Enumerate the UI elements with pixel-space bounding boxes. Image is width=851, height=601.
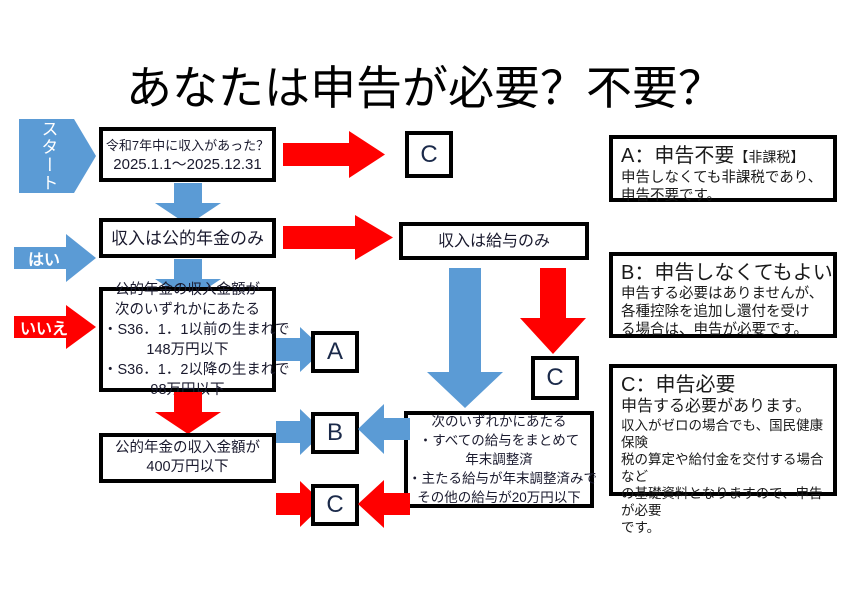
start-pentagon-arrow: スタート [19,119,96,193]
q1-line2: 2025.1.1～2025.12.31 [103,155,272,174]
q3-line1: 公的年金の収入金額が [103,280,272,300]
legend-b-head-main: B：申告しなくてもよい [621,261,826,285]
question-box-pension-4m: 公的年金の収入金額が 400万円以下 [99,433,276,483]
question-box-salary-only: 収入は給与のみ [399,222,589,260]
legend-a-head-small: 【非課税】 [734,149,804,165]
arrow-right-q2-to-salary [283,215,393,260]
yes-label: はい [18,234,70,282]
q3-line4: 148万円以下 [103,340,272,360]
q6-line3: 年末調整済 [408,450,590,469]
arrow-down-salary-to-detail [427,268,503,408]
result-box-a: A [311,331,359,373]
no-label: いいえ [18,305,70,349]
result-b-label: B [327,421,343,445]
q4-line2: 400万円以下 [103,458,272,477]
start-label: スタート [19,119,77,193]
result-c-top-label: C [420,143,437,167]
question-box-pension-threshold: 公的年金の収入金額が 次のいずれかにあたる ・S36．1．1以前の生まれで 14… [99,287,276,392]
question-box-year-end-adjustment: 次のいずれかにあたる ・すべての給与をまとめて 年末調整済 ・主たる給与が年末調… [404,411,594,508]
q3-line2: 次のいずれかにあたる [103,300,272,320]
q6-line2: ・すべての給与をまとめて [408,431,590,450]
arrow-left-to-c-mid [358,480,410,528]
arrow-right-icon [283,215,393,260]
legend-a-body-line1: 申告しなくても非課税であり、 [621,169,826,187]
q6-line5: その他の給与が20万円以下 [408,488,590,507]
result-c-right-label: C [546,366,563,390]
legend-c-body-line2: 税の算定や給付金を交付する場合など [621,451,826,485]
result-box-c-top: C [405,131,453,178]
legend-a-head: A：申告不要【非課税】 [621,144,826,169]
q6-line4: ・主たる給与が年末調整済みで [408,469,590,488]
question-box-pension-only: 収入は公的年金のみ [99,218,276,258]
arrow-left-icon [358,480,410,528]
arrow-right-icon [283,131,385,178]
legend-c-head-main: C：申告必要 [621,373,826,397]
q4-line1: 公的年金の収入金額が [103,439,272,458]
legend-c-body-line1: 収入がゼロの場合でも、国民健康保険 [621,417,826,451]
arrow-down-icon [520,268,586,354]
yes-arrow: はい [14,234,96,282]
q6-line1: 次のいずれかにあたる [408,412,590,431]
q3-line5: ・S36．1．2以降の生まれで [103,360,272,380]
flowchart-canvas: あなたは申告が必要？不要？ スタート はい いいえ 令和7年中に収入があった？ … [0,0,851,601]
question-box-income-2025: 令和7年中に収入があった？ 2025.1.1～2025.12.31 [99,127,276,182]
arrow-left-to-b [358,404,410,454]
arrow-left-icon [358,404,410,454]
arrow-right-q1-to-c [283,131,385,178]
legend-a-body-line2: 申告不要です。 [621,187,826,205]
legend-box-c: C：申告必要 申告する必要があります。 収入がゼロの場合でも、国民健康保険 税の… [609,364,837,496]
legend-box-b: B：申告しなくてもよい 申告する必要はありませんが、 各種控除を追加し還付を受け… [609,252,837,338]
legend-b-body-line2: 各種控除を追加し還付を受け [621,303,826,321]
arrow-down-icon [427,268,503,408]
result-c-mid-label: C [326,493,343,517]
legend-b-body-line3: る場合は、申告が必要です。 [621,321,826,339]
page-title: あなたは申告が必要？不要？ [120,62,730,114]
arrow-down-salary-to-c [520,268,586,354]
result-a-label: A [327,340,343,364]
q1-line1: 令和7年中に収入があった？ [103,136,272,155]
arrow-down-q3-to-q4 [155,392,221,434]
legend-a-head-main: A：申告不要 [621,145,734,167]
legend-c-body-line3: の基礎資料となりますので、申告が必要 [621,485,826,519]
result-box-c-mid: C [311,484,359,526]
legend-box-a: A：申告不要【非課税】 申告しなくても非課税であり、 申告不要です。 [609,135,837,202]
q3-line3: ・S36．1．1以前の生まれで [103,320,272,340]
legend-c-body-line4: です。 [621,519,826,536]
no-arrow: いいえ [14,305,96,349]
q2-text: 収入は公的年金のみ [103,229,272,248]
result-box-b: B [311,412,359,454]
legend-c-body-strong: 申告する必要があります。 [621,397,826,417]
result-box-c-right: C [531,356,579,400]
q5-text: 収入は給与のみ [403,232,585,251]
arrow-down-icon [155,392,221,434]
legend-b-body-line1: 申告する必要はありませんが、 [621,285,826,303]
